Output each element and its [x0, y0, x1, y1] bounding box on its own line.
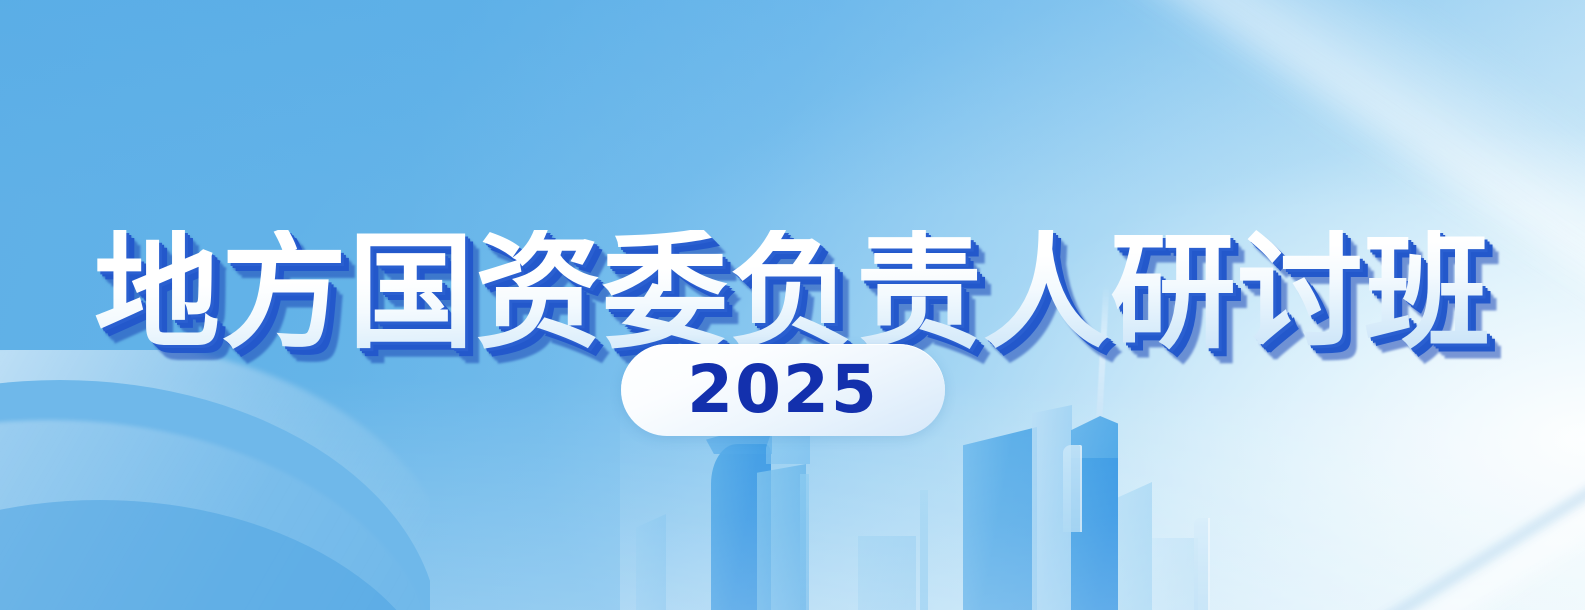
swoosh-bottom-left [0, 350, 430, 610]
year-badge: 2025 [621, 344, 945, 436]
year-badge-label: 2025 [687, 357, 879, 423]
banner-title: 地方国资委负责人研讨班 [0, 230, 1585, 356]
event-banner: 地方国资委负责人研讨班 2025 [0, 0, 1585, 610]
